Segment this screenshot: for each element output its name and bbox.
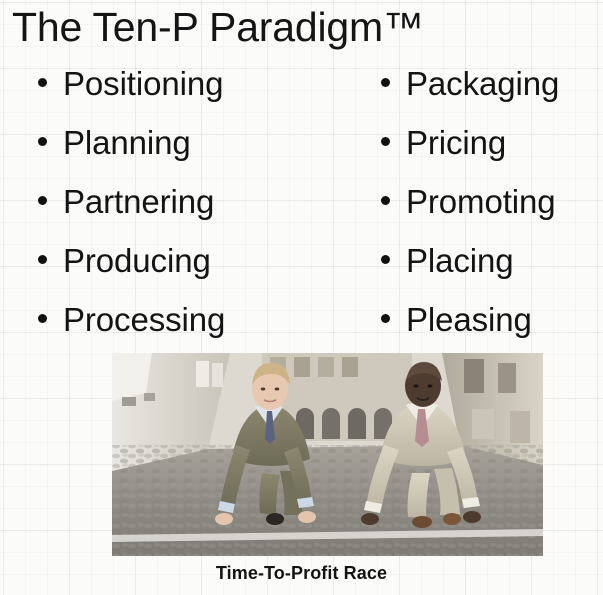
list-item: Producing bbox=[38, 241, 225, 300]
list-item: Processing bbox=[38, 300, 225, 359]
bullet-label: Promoting bbox=[406, 182, 556, 222]
list-item: Packaging bbox=[381, 64, 559, 123]
bullet-label: Placing bbox=[406, 241, 514, 281]
list-item: Planning bbox=[38, 123, 225, 182]
bullet-label: Partnering bbox=[63, 182, 214, 222]
bullet-dot-icon bbox=[38, 196, 47, 205]
list-item: Promoting bbox=[381, 182, 559, 241]
bullet-label: Pricing bbox=[406, 123, 506, 163]
race-photo-illustration bbox=[112, 353, 543, 556]
bullet-dot-icon bbox=[381, 78, 390, 87]
bullet-dot-icon bbox=[381, 196, 390, 205]
bullet-label: Pleasing bbox=[406, 300, 532, 340]
bullet-dot-icon bbox=[38, 137, 47, 146]
bullet-label: Processing bbox=[63, 300, 225, 340]
photo-caption: Time-To-Profit Race bbox=[0, 563, 603, 584]
bullet-label: Planning bbox=[63, 123, 191, 163]
bullet-dot-icon bbox=[381, 137, 390, 146]
list-item: Placing bbox=[381, 241, 559, 300]
bullet-dot-icon bbox=[38, 78, 47, 87]
bullet-dot-icon bbox=[38, 314, 47, 323]
bullet-label: Packaging bbox=[406, 64, 559, 104]
race-photo bbox=[112, 353, 543, 556]
bullet-label: Producing bbox=[63, 241, 211, 281]
list-item: Partnering bbox=[38, 182, 225, 241]
list-item: Positioning bbox=[38, 64, 225, 123]
bullet-label: Positioning bbox=[63, 64, 223, 104]
bullet-dot-icon bbox=[381, 255, 390, 264]
bullet-list-right: Packaging Pricing Promoting Placing Plea… bbox=[381, 64, 559, 359]
page-title: The Ten-P Paradigm™ bbox=[12, 4, 424, 50]
bullet-dot-icon bbox=[38, 255, 47, 264]
bullet-list-left: Positioning Planning Partnering Producin… bbox=[38, 64, 225, 359]
bullet-dot-icon bbox=[381, 314, 390, 323]
list-item: Pleasing bbox=[381, 300, 559, 359]
slide-canvas: The Ten-P Paradigm™ Positioning Planning… bbox=[0, 0, 603, 595]
list-item: Pricing bbox=[381, 123, 559, 182]
